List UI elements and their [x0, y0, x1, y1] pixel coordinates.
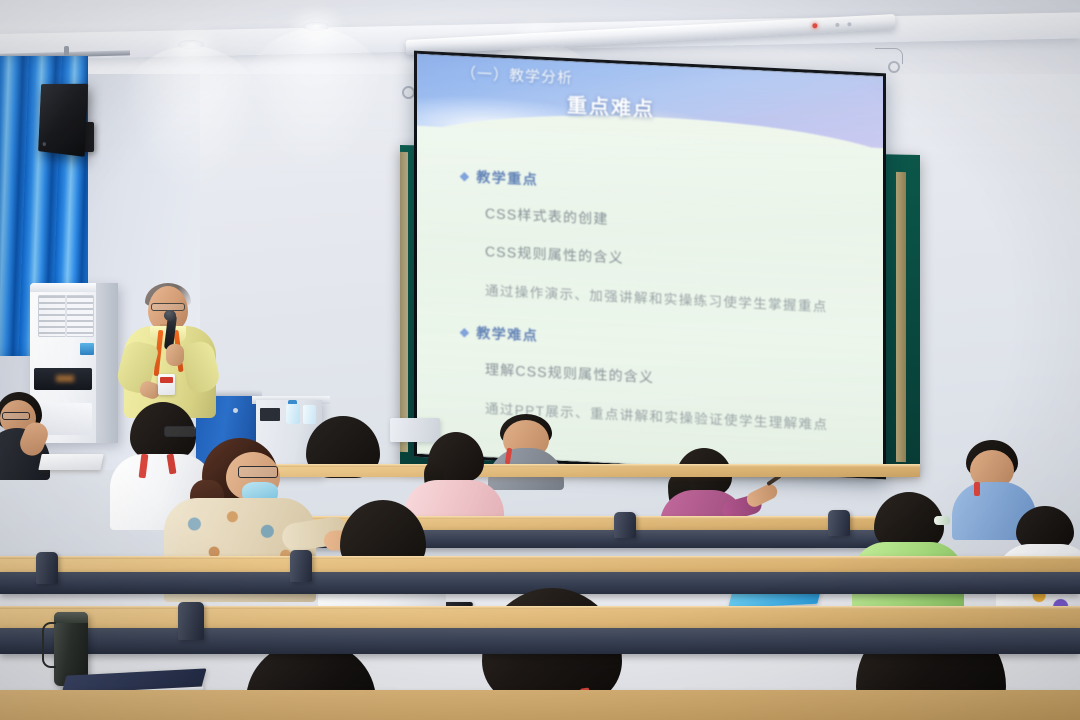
slide-bullet: CSS规则属性的含义	[485, 241, 853, 279]
podium-knob-icon[interactable]	[233, 408, 238, 413]
diamond-bullet-icon: ❖	[459, 326, 471, 341]
slide-title: 重点难点	[567, 89, 655, 122]
ac-grille-divider	[65, 295, 67, 337]
glasses-icon	[2, 412, 30, 420]
water-bottle	[286, 404, 300, 424]
desk-divider-post	[36, 552, 58, 584]
speaker-led	[43, 142, 47, 146]
badge-accent	[160, 377, 173, 383]
desk-edge	[0, 606, 1080, 609]
slide-body: ❖教学重点 CSS样式表的创建 CSS规则属性的含义 通过操作演示、加强讲解和实…	[417, 126, 883, 480]
slide-kicker: （一）教学分析	[461, 62, 573, 88]
desk-foreground-ledge	[0, 690, 1080, 720]
white-paper-stack	[38, 454, 103, 470]
wall-speaker-icon	[38, 84, 88, 157]
slide-bullet: 理解CSS规则属性的含义	[485, 359, 853, 397]
ac-label-sticker	[80, 343, 94, 355]
desk-front-panel-row-4	[0, 628, 1080, 654]
desk-divider-post	[178, 602, 204, 640]
slide-bullet: 通过操作演示、加强讲解和实操练习使学生掌握重点	[485, 279, 853, 317]
ac-display-panel	[34, 368, 92, 390]
chalkboard-frame-right	[896, 172, 906, 462]
presenting-teacher	[118, 286, 222, 418]
downlight-icon	[303, 22, 329, 31]
ac-display-glow	[56, 375, 74, 382]
slide-section-heading-text: 教学难点	[476, 325, 538, 344]
slide-bullet: CSS样式表的创建	[485, 203, 853, 241]
desk-divider-post	[828, 510, 850, 536]
chalkboard-frame-left	[400, 152, 408, 452]
slide-section-heading: ❖教学重点	[459, 166, 853, 205]
desk-row-1	[272, 464, 920, 477]
desk-surface	[0, 690, 1080, 720]
roller-button-icon[interactable]	[835, 23, 839, 27]
id-badge	[158, 374, 175, 395]
teacher-hand-right	[166, 344, 184, 366]
projector-screen[interactable]: （一）教学分析 重点难点 ❖教学重点 CSS样式表的创建 CSS规则属性的含义 …	[414, 51, 886, 480]
thermos-strap-icon	[42, 622, 56, 668]
desk-edge	[272, 464, 920, 467]
classroom-photo: （一）教学分析 重点难点 ❖教学重点 CSS样式表的创建 CSS规则属性的含义 …	[0, 0, 1080, 720]
roller-button-icon[interactable]	[847, 22, 851, 26]
thermos-lid	[54, 612, 88, 623]
downlight-icon	[178, 40, 204, 49]
roller-end-cap-right	[888, 61, 900, 73]
desk-divider-post	[290, 550, 312, 582]
lanyard-strap	[974, 482, 980, 496]
roller-indicator-led-icon	[812, 23, 817, 28]
diamond-bullet-icon: ❖	[459, 170, 471, 185]
cabinet-control-panel[interactable]	[260, 408, 280, 421]
desk-edge	[0, 556, 1080, 559]
glasses-icon	[238, 466, 278, 478]
glasses-icon	[164, 426, 196, 437]
hair-clip-icon	[934, 516, 950, 525]
slide-section-heading-text: 教学重点	[476, 169, 538, 188]
desk-divider-post	[614, 512, 636, 538]
